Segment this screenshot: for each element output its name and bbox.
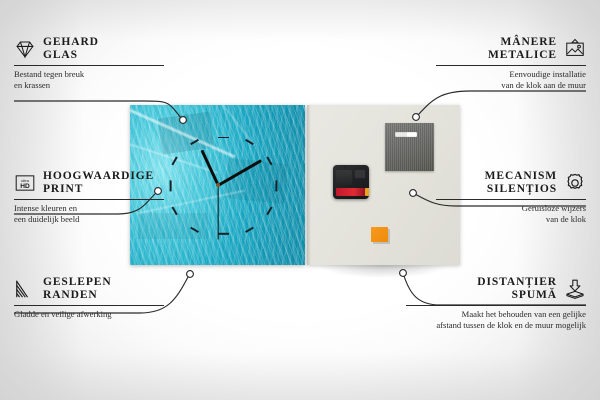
foam-spacer: [371, 227, 388, 242]
callout-title: GESLEPEN RANDEN: [43, 276, 112, 302]
clock-tick: [218, 137, 229, 139]
callout-header: ultra HD HOOGWAARDIGE PRINT: [14, 170, 164, 196]
callout-title: GEHARD GLAS: [43, 36, 99, 62]
metal-hanger-plate-icon: [385, 123, 434, 171]
callout-rule: [14, 305, 164, 306]
callout-header: GEHARD GLAS: [14, 36, 164, 62]
callout-distantier-spuma: DISTANȚIER SPUMĂ Maakt het behouden van …: [406, 276, 586, 330]
callout-rule: [436, 65, 586, 66]
silent-mechanism-box: [333, 165, 369, 199]
callout-description: Bestand tegen breuk en krassen: [14, 69, 164, 90]
gear-icon: [564, 172, 586, 194]
callout-title: DISTANȚIER SPUMĂ: [477, 276, 557, 302]
panel-edge-shadow: [307, 105, 311, 265]
product-image: [130, 105, 460, 265]
callout-description: Intense kleuren en een duidelijk beeld: [14, 203, 164, 224]
callout-description: Geruisloze wijzers van de klok: [436, 203, 586, 224]
callout-manere-metalice: MÂNERE METALICE Eenvoudige installatie v…: [436, 36, 586, 90]
callout-description: Gladde en veilige afwerking: [14, 309, 164, 320]
svg-text:HD: HD: [20, 183, 30, 190]
callout-title: HOOGWAARDIGE PRINT: [43, 170, 154, 196]
second-hand: [217, 185, 218, 240]
clock-tick: [275, 180, 277, 191]
hanger-slot: [395, 132, 417, 137]
callout-hoogwaardige-print: ultra HD HOOGWAARDIGE PRINT Intense kleu…: [14, 170, 164, 224]
press-down-foam-icon: [564, 278, 586, 300]
beveled-edge-icon: [14, 278, 36, 300]
callout-title: MECANISM SILENȚIOS: [485, 170, 557, 196]
callout-header: DISTANȚIER SPUMĂ: [406, 276, 586, 302]
callout-description: Maakt het behouden van een gelijke afsta…: [406, 309, 586, 330]
callout-header: GESLEPEN RANDEN: [14, 276, 164, 302]
ultra-hd-icon: ultra HD: [14, 172, 36, 194]
callout-mecanism-silentios: MECANISM SILENȚIOS Geruisloze wijzers va…: [436, 170, 586, 224]
callout-header: MÂNERE METALICE: [436, 36, 586, 62]
infographic-canvas: GEHARD GLAS Bestand tegen breuk en krass…: [0, 0, 600, 400]
mechanism-dial-small: [355, 170, 365, 178]
battery: [336, 188, 366, 196]
callout-rule: [14, 65, 164, 66]
callout-rule: [406, 305, 586, 306]
mechanism-hanger-loop: [344, 165, 358, 169]
clock-center-hub: [216, 183, 220, 187]
clock-tick: [169, 180, 171, 191]
callout-rule: [436, 199, 586, 200]
callout-gehard-glas: GEHARD GLAS Bestand tegen breuk en krass…: [14, 36, 164, 90]
callout-description: Eenvoudige installatie van de klok aan d…: [436, 69, 586, 90]
picture-frame-icon: [564, 38, 586, 60]
mechanism-dial: [336, 170, 352, 185]
callout-title: MÂNERE METALICE: [488, 36, 557, 62]
diamond-icon: [14, 38, 36, 60]
battery-terminal: [365, 188, 369, 196]
callout-header: MECANISM SILENȚIOS: [436, 170, 586, 196]
callout-rule: [14, 199, 164, 200]
callout-geslepen-randen: GESLEPEN RANDEN Gladde en veilige afwerk…: [14, 276, 164, 320]
